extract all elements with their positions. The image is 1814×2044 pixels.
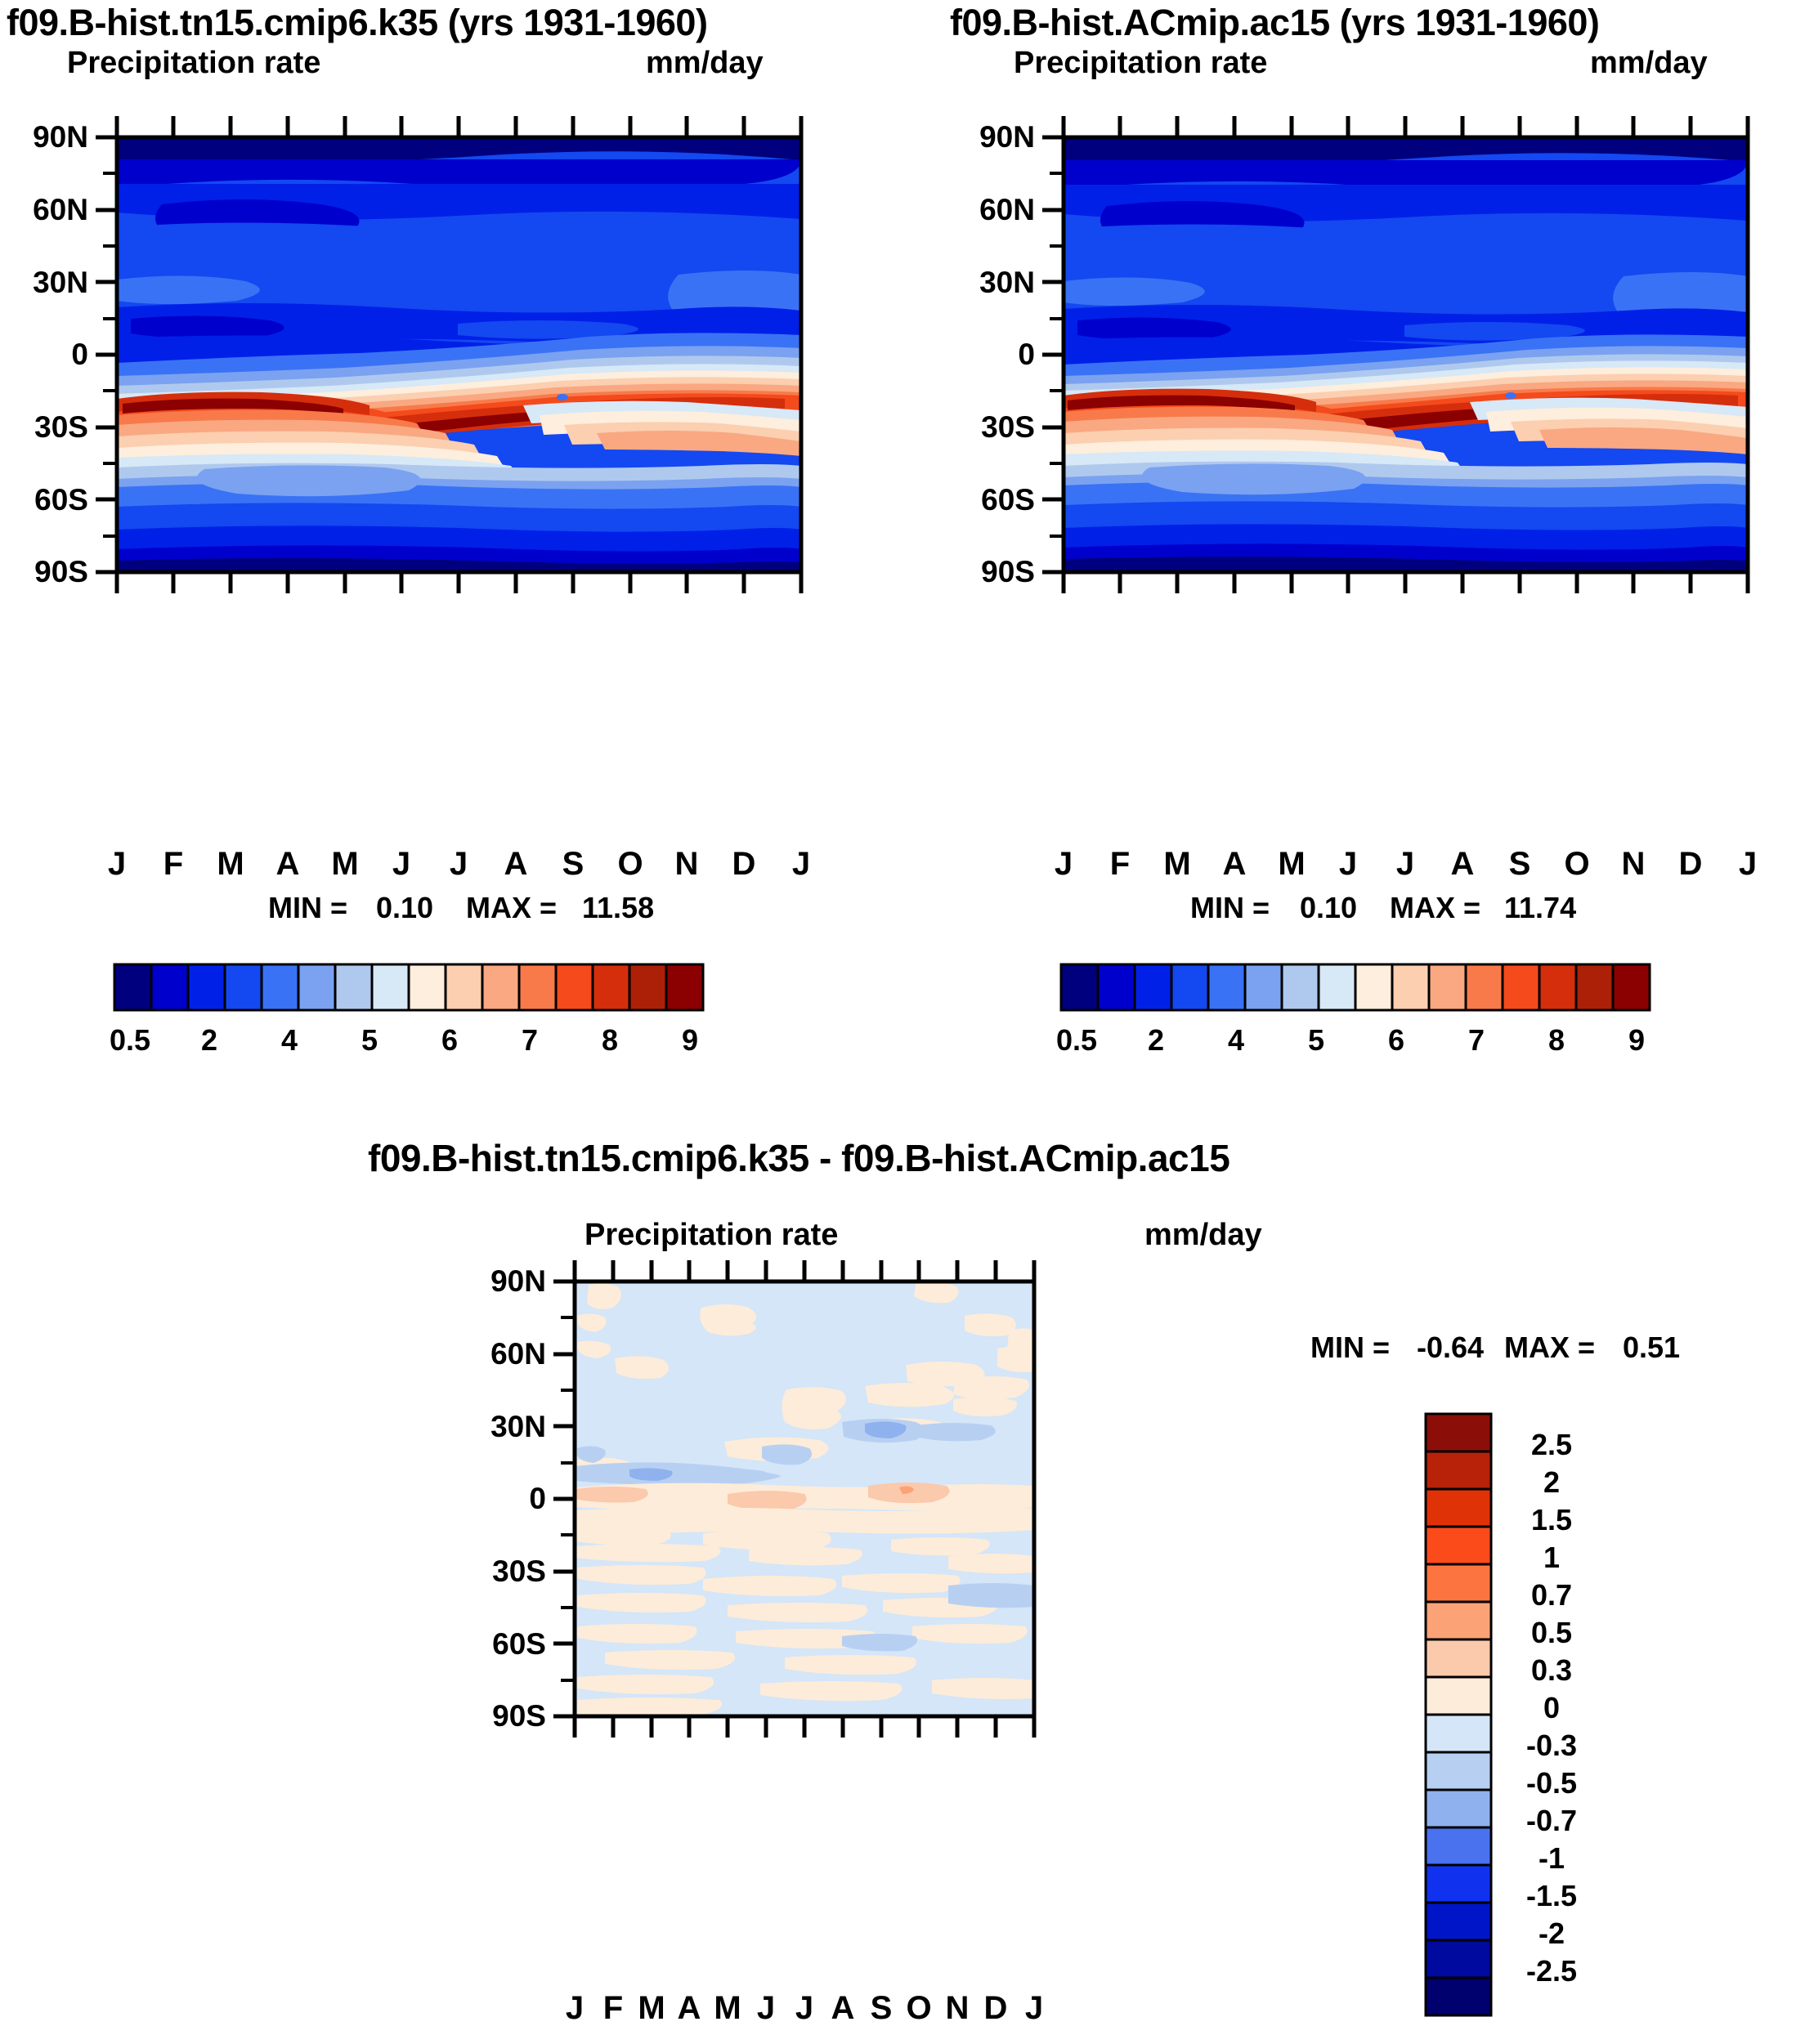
colorbar-cell	[629, 964, 666, 1010]
right-ytick-3: 0	[947, 338, 1035, 372]
right-max-label: MAX =	[1390, 891, 1480, 925]
diff-ytick-5: 60S	[458, 1627, 546, 1662]
right-cb-label-4: 6	[1357, 1023, 1436, 1058]
right-ytick-2: 30N	[947, 266, 1035, 300]
left-xtick-12: J	[777, 846, 826, 883]
left-min-value: 0.10	[376, 891, 433, 925]
diff-plot-field	[575, 1281, 1034, 1716]
left-max-value: 11.58	[582, 891, 654, 925]
right-plot-field	[1064, 137, 1748, 572]
left-plot-field	[117, 137, 801, 572]
right-cb-label-3: 5	[1277, 1023, 1355, 1058]
right-ytick-6: 90S	[947, 555, 1035, 589]
left-ytick-1: 60N	[0, 193, 88, 227]
left-xtick-11: D	[719, 846, 768, 883]
colorbar-cell	[1426, 1715, 1491, 1752]
colorbar-cell	[556, 964, 593, 1010]
diff-cb-label-9: -0.5	[1511, 1766, 1592, 1800]
colorbar-cell	[666, 964, 703, 1010]
diff-cb-label-1: 2	[1511, 1465, 1592, 1500]
colorbar-cell	[1355, 964, 1392, 1010]
diff-cb-label-8: -0.3	[1511, 1729, 1592, 1763]
diff-colorbar	[1424, 1412, 1498, 2017]
left-xtick-5: J	[377, 846, 426, 883]
colorbar-cell	[1426, 1790, 1491, 1827]
colorbar-cell	[1426, 1940, 1491, 1978]
right-panel-variable-label: Precipitation rate	[1014, 46, 1267, 81]
left-cb-label-5: 7	[490, 1023, 569, 1058]
colorbar-cell	[372, 964, 409, 1010]
right-xtick-0: J	[1039, 846, 1088, 883]
right-xtick-1: F	[1095, 846, 1144, 883]
left-xtick-9: O	[606, 846, 655, 883]
left-xtick-2: M	[206, 846, 255, 883]
right-min-label: MIN =	[1190, 891, 1270, 925]
diff-cb-label-10: -0.7	[1511, 1804, 1592, 1838]
colorbar-cell	[1503, 964, 1539, 1010]
colorbar-cell	[188, 964, 225, 1010]
right-ytick-0: 90N	[947, 120, 1035, 154]
right-xtick-6: J	[1381, 846, 1430, 883]
diff-cb-label-4: 0.7	[1511, 1578, 1592, 1612]
diff-cb-label-0: 2.5	[1511, 1428, 1592, 1462]
colorbar-cell	[1061, 964, 1098, 1010]
colorbar-cell	[1208, 964, 1245, 1010]
left-panel-variable-label: Precipitation rate	[67, 46, 320, 81]
colorbar-cell	[1426, 1752, 1491, 1790]
diff-cb-label-5: 0.5	[1511, 1616, 1592, 1650]
left-ytick-2: 30N	[0, 266, 88, 300]
right-ytick-5: 60S	[947, 483, 1035, 517]
diff-cb-label-13: -2	[1511, 1917, 1592, 1951]
right-xtick-2: M	[1153, 846, 1202, 883]
colorbar-cell	[482, 964, 519, 1010]
right-cb-label-6: 8	[1517, 1023, 1596, 1058]
right-ytick-4: 30S	[947, 410, 1035, 445]
diff-xtick-12: J	[1010, 1990, 1059, 2027]
right-colorbar	[1061, 963, 1650, 1020]
left-xtick-3: A	[263, 846, 312, 883]
colorbar-cell	[1282, 964, 1319, 1010]
right-xtick-5: J	[1324, 846, 1373, 883]
colorbar-cell	[298, 964, 335, 1010]
right-ytick-1: 60N	[947, 193, 1035, 227]
diff-cb-label-14: -2.5	[1511, 1954, 1592, 1988]
right-cb-label-2: 4	[1197, 1023, 1275, 1058]
right-cb-label-5: 7	[1437, 1023, 1516, 1058]
diff-min-value: -0.64	[1417, 1331, 1484, 1365]
left-xtick-6: J	[434, 846, 483, 883]
right-xtick-10: N	[1609, 846, 1658, 883]
diff-ytick-0: 90N	[458, 1264, 546, 1299]
colorbar-cell	[1426, 1978, 1491, 2015]
colorbar-cell	[262, 964, 298, 1010]
left-cb-label-0: 0.5	[91, 1023, 169, 1058]
colorbar-cell	[593, 964, 629, 1010]
colorbar-cell	[1245, 964, 1282, 1010]
colorbar-cell	[1426, 1564, 1491, 1602]
left-ytick-0: 90N	[0, 120, 88, 154]
colorbar-cell	[1392, 964, 1429, 1010]
colorbar-cell	[1576, 964, 1613, 1010]
diff-cb-label-11: -1	[1511, 1841, 1592, 1876]
left-ytick-3: 0	[0, 338, 88, 372]
colorbar-cell	[225, 964, 262, 1010]
colorbar-cell	[114, 964, 151, 1010]
colorbar-cell	[1098, 964, 1135, 1010]
left-xtick-10: N	[662, 846, 711, 883]
left-xtick-0: J	[92, 846, 141, 883]
left-colorbar	[114, 963, 703, 1020]
diff-cb-label-6: 0.3	[1511, 1653, 1592, 1688]
diff-cb-label-2: 1.5	[1511, 1503, 1592, 1537]
colorbar-cell	[446, 964, 482, 1010]
diff-min-label: MIN =	[1310, 1331, 1390, 1365]
left-xtick-8: S	[549, 846, 598, 883]
left-plot	[0, 82, 899, 866]
colorbar-cell	[1171, 964, 1208, 1010]
left-panel-title: f09.B-hist.tn15.cmip6.k35 (yrs 1931-1960…	[7, 2, 707, 44]
colorbar-cell	[151, 964, 188, 1010]
right-plot	[947, 82, 1813, 866]
right-xtick-11: D	[1666, 846, 1715, 883]
diff-ytick-2: 30N	[458, 1410, 546, 1444]
right-xtick-12: J	[1723, 846, 1772, 883]
left-ytick-5: 60S	[0, 483, 88, 517]
right-xtick-8: S	[1495, 846, 1544, 883]
diff-panel-title: f09.B-hist.tn15.cmip6.k35 - f09.B-hist.A…	[368, 1136, 1229, 1180]
diff-ytick-1: 60N	[458, 1337, 546, 1371]
colorbar-cell	[1135, 964, 1171, 1010]
right-xtick-4: M	[1267, 846, 1316, 883]
left-cb-label-4: 6	[410, 1023, 489, 1058]
colorbar-cell	[1426, 1527, 1491, 1564]
right-cb-label-1: 2	[1117, 1023, 1195, 1058]
colorbar-cell	[1426, 1451, 1491, 1489]
left-panel-units-label: mm/day	[646, 46, 764, 81]
right-cb-label-0: 0.5	[1037, 1023, 1116, 1058]
colorbar-cell	[1426, 1677, 1491, 1715]
right-panel-title: f09.B-hist.ACmip.ac15 (yrs 1931-1960)	[950, 2, 1599, 44]
left-ytick-4: 30S	[0, 410, 88, 445]
diff-ytick-4: 30S	[458, 1554, 546, 1589]
right-panel-units-label: mm/day	[1590, 46, 1708, 81]
diff-cb-label-7: 0	[1511, 1691, 1592, 1725]
colorbar-cell	[1426, 1489, 1491, 1527]
colorbar-cell	[409, 964, 446, 1010]
left-max-label: MAX =	[466, 891, 557, 925]
diff-cb-label-12: -1.5	[1511, 1879, 1592, 1913]
colorbar-cell	[1466, 964, 1503, 1010]
diff-cb-label-3: 1	[1511, 1541, 1592, 1575]
colorbar-cell	[1426, 1602, 1491, 1639]
left-cb-label-7: 9	[651, 1023, 729, 1058]
colorbar-cell	[335, 964, 372, 1010]
left-cb-label-6: 8	[571, 1023, 649, 1058]
diff-max-label: MAX =	[1504, 1331, 1595, 1365]
left-ytick-6: 90S	[0, 555, 88, 589]
left-cb-label-2: 4	[250, 1023, 329, 1058]
colorbar-cell	[1613, 964, 1650, 1010]
colorbar-cell	[1429, 964, 1466, 1010]
left-min-label: MIN =	[268, 891, 347, 925]
colorbar-cell	[519, 964, 556, 1010]
right-max-value: 11.74	[1504, 891, 1576, 925]
colorbar-cell	[1426, 1639, 1491, 1677]
colorbar-cell	[1426, 1827, 1491, 1865]
diff-ytick-3: 0	[458, 1482, 546, 1516]
colorbar-cell	[1426, 1414, 1491, 1451]
colorbar-cell	[1426, 1903, 1491, 1940]
right-xtick-7: A	[1438, 846, 1487, 883]
left-xtick-4: M	[320, 846, 370, 883]
left-cb-label-1: 2	[170, 1023, 249, 1058]
diff-plot	[458, 1226, 1324, 2043]
diff-max-value: 0.51	[1623, 1331, 1680, 1365]
diff-ytick-6: 90S	[458, 1699, 546, 1733]
left-xtick-1: F	[149, 846, 198, 883]
colorbar-cell	[1539, 964, 1576, 1010]
colorbar-cell	[1426, 1865, 1491, 1903]
right-min-value: 0.10	[1300, 891, 1357, 925]
left-xtick-7: A	[491, 846, 540, 883]
left-cb-label-3: 5	[330, 1023, 409, 1058]
right-cb-label-7: 9	[1597, 1023, 1676, 1058]
right-xtick-9: O	[1552, 846, 1601, 883]
right-xtick-3: A	[1210, 846, 1259, 883]
colorbar-cell	[1319, 964, 1355, 1010]
